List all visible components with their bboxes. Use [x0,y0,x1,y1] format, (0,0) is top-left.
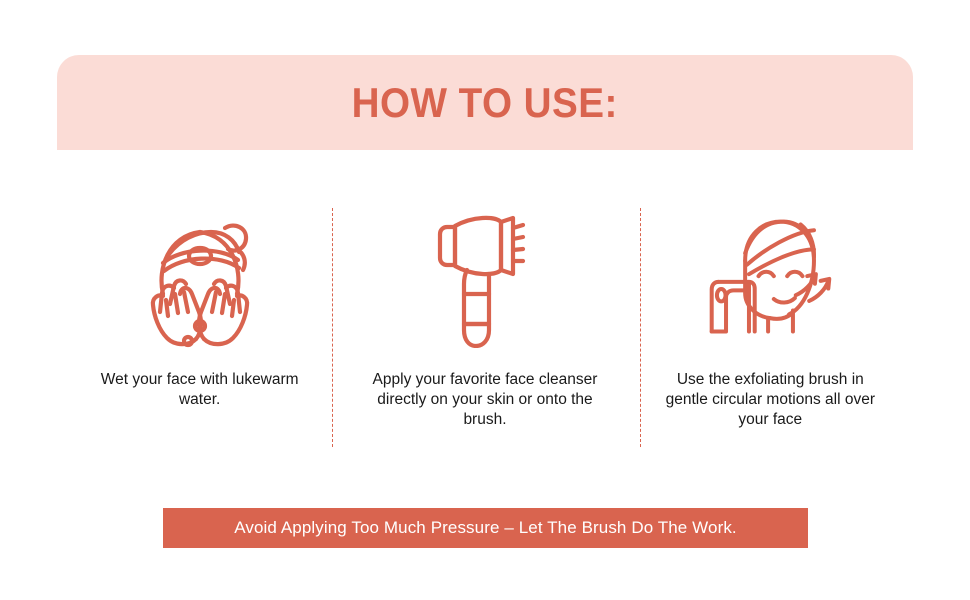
face-brush-circular-motion-icon [705,208,835,348]
steps-row: Wet your face with lukewarm water. [57,200,913,455]
step-caption-3: Use the exfoliating brush in gentle circ… [655,370,885,430]
footer-note: Avoid Applying Too Much Pressure – Let T… [234,518,737,538]
face-washing-hands-icon [135,208,265,348]
step-item-2: Apply your favorite face cleanser direct… [342,200,627,455]
step-caption-1: Wet your face with lukewarm water. [85,370,315,410]
page-title: HOW TO USE: [352,79,618,127]
step-item-3: Use the exfoliating brush in gentle circ… [628,200,913,455]
cleansing-brush-device-icon [420,208,550,348]
step-caption-2: Apply your favorite face cleanser direct… [370,370,600,430]
header-banner: HOW TO USE: [57,55,913,150]
step-item-1: Wet your face with lukewarm water. [57,200,342,455]
footer-banner: Avoid Applying Too Much Pressure – Let T… [163,508,808,548]
